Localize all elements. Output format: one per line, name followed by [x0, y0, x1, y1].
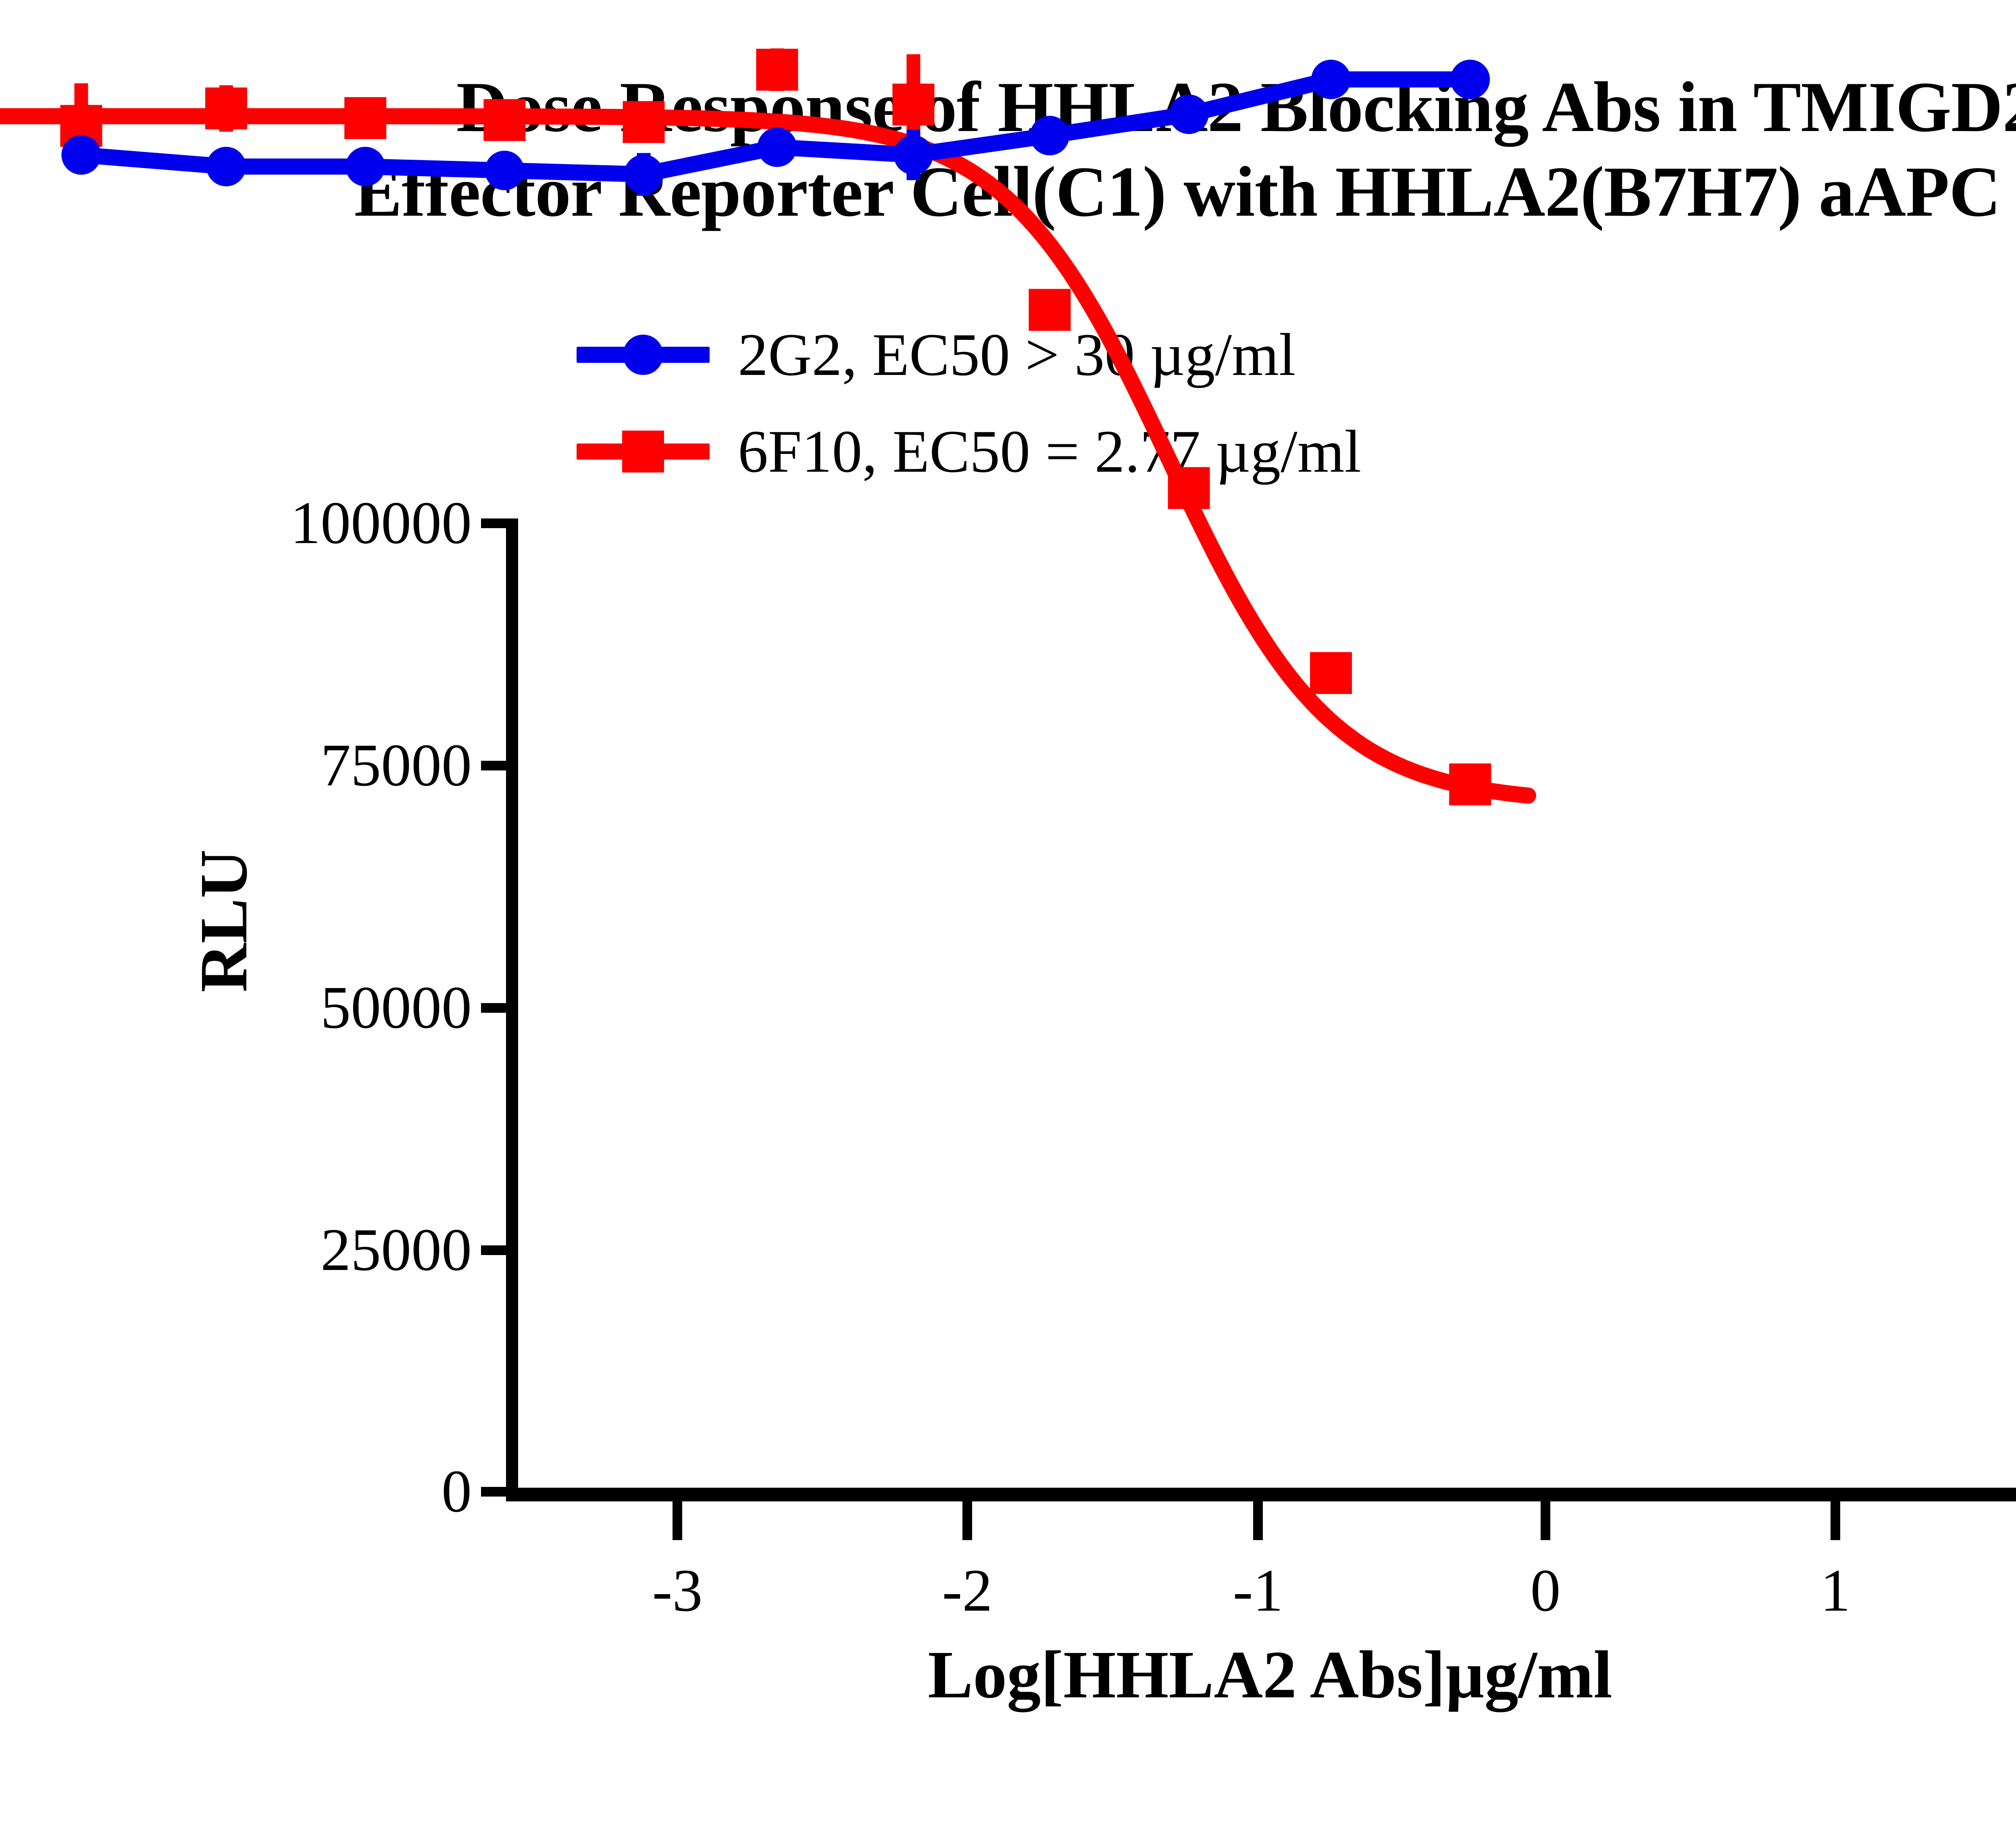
- x-tick-mark: [1831, 1501, 1840, 1540]
- data-point-square: [1168, 467, 1210, 509]
- data-point-square: [756, 49, 798, 91]
- data-point-square: [1449, 764, 1491, 806]
- data-point-square: [1310, 652, 1352, 694]
- data-point-circle: [1030, 116, 1069, 155]
- data-point-circle: [1169, 94, 1209, 134]
- x-tick-label: -2: [866, 1560, 1068, 1621]
- data-point-square: [1029, 289, 1070, 331]
- y-tick-label: 25000: [8, 1220, 472, 1280]
- x-tick-mark: [1541, 1501, 1550, 1540]
- x-axis-line: [506, 1488, 2016, 1501]
- data-point-circle: [346, 147, 385, 186]
- data-point-circle: [61, 135, 101, 175]
- x-tick-mark: [962, 1501, 972, 1540]
- data-point-square: [483, 99, 525, 141]
- data-point-square: [205, 87, 247, 129]
- data-point-circle: [1311, 60, 1351, 99]
- data-point-circle: [757, 127, 797, 167]
- chart-plot-svg: [0, 0, 1895, 1201]
- data-point-circle: [624, 154, 664, 194]
- x-tick-label: -1: [1157, 1560, 1359, 1621]
- data-point-square: [344, 97, 386, 139]
- chart-figure: Dose Response of HHLA2 Blocking Abs in T…: [0, 0, 2016, 1832]
- x-axis-title: Log[HHLA2 Abs]µg/ml: [506, 1641, 2016, 1709]
- x-tick-label: -3: [577, 1560, 778, 1621]
- y-tick-label: 0: [8, 1461, 472, 1522]
- x-tick-mark: [673, 1501, 682, 1540]
- y-tick-mark: [481, 1245, 506, 1255]
- data-point-circle: [1450, 60, 1490, 99]
- data-point-circle: [206, 147, 246, 186]
- x-tick-mark: [1253, 1501, 1263, 1540]
- data-point-circle: [485, 151, 524, 190]
- x-tick-label: 1: [1735, 1560, 1936, 1621]
- data-point-circle: [893, 135, 933, 175]
- data-point-square: [623, 101, 665, 143]
- data-point-square: [892, 83, 934, 125]
- x-tick-label: 0: [1445, 1560, 1646, 1621]
- y-tick-mark: [481, 1487, 506, 1497]
